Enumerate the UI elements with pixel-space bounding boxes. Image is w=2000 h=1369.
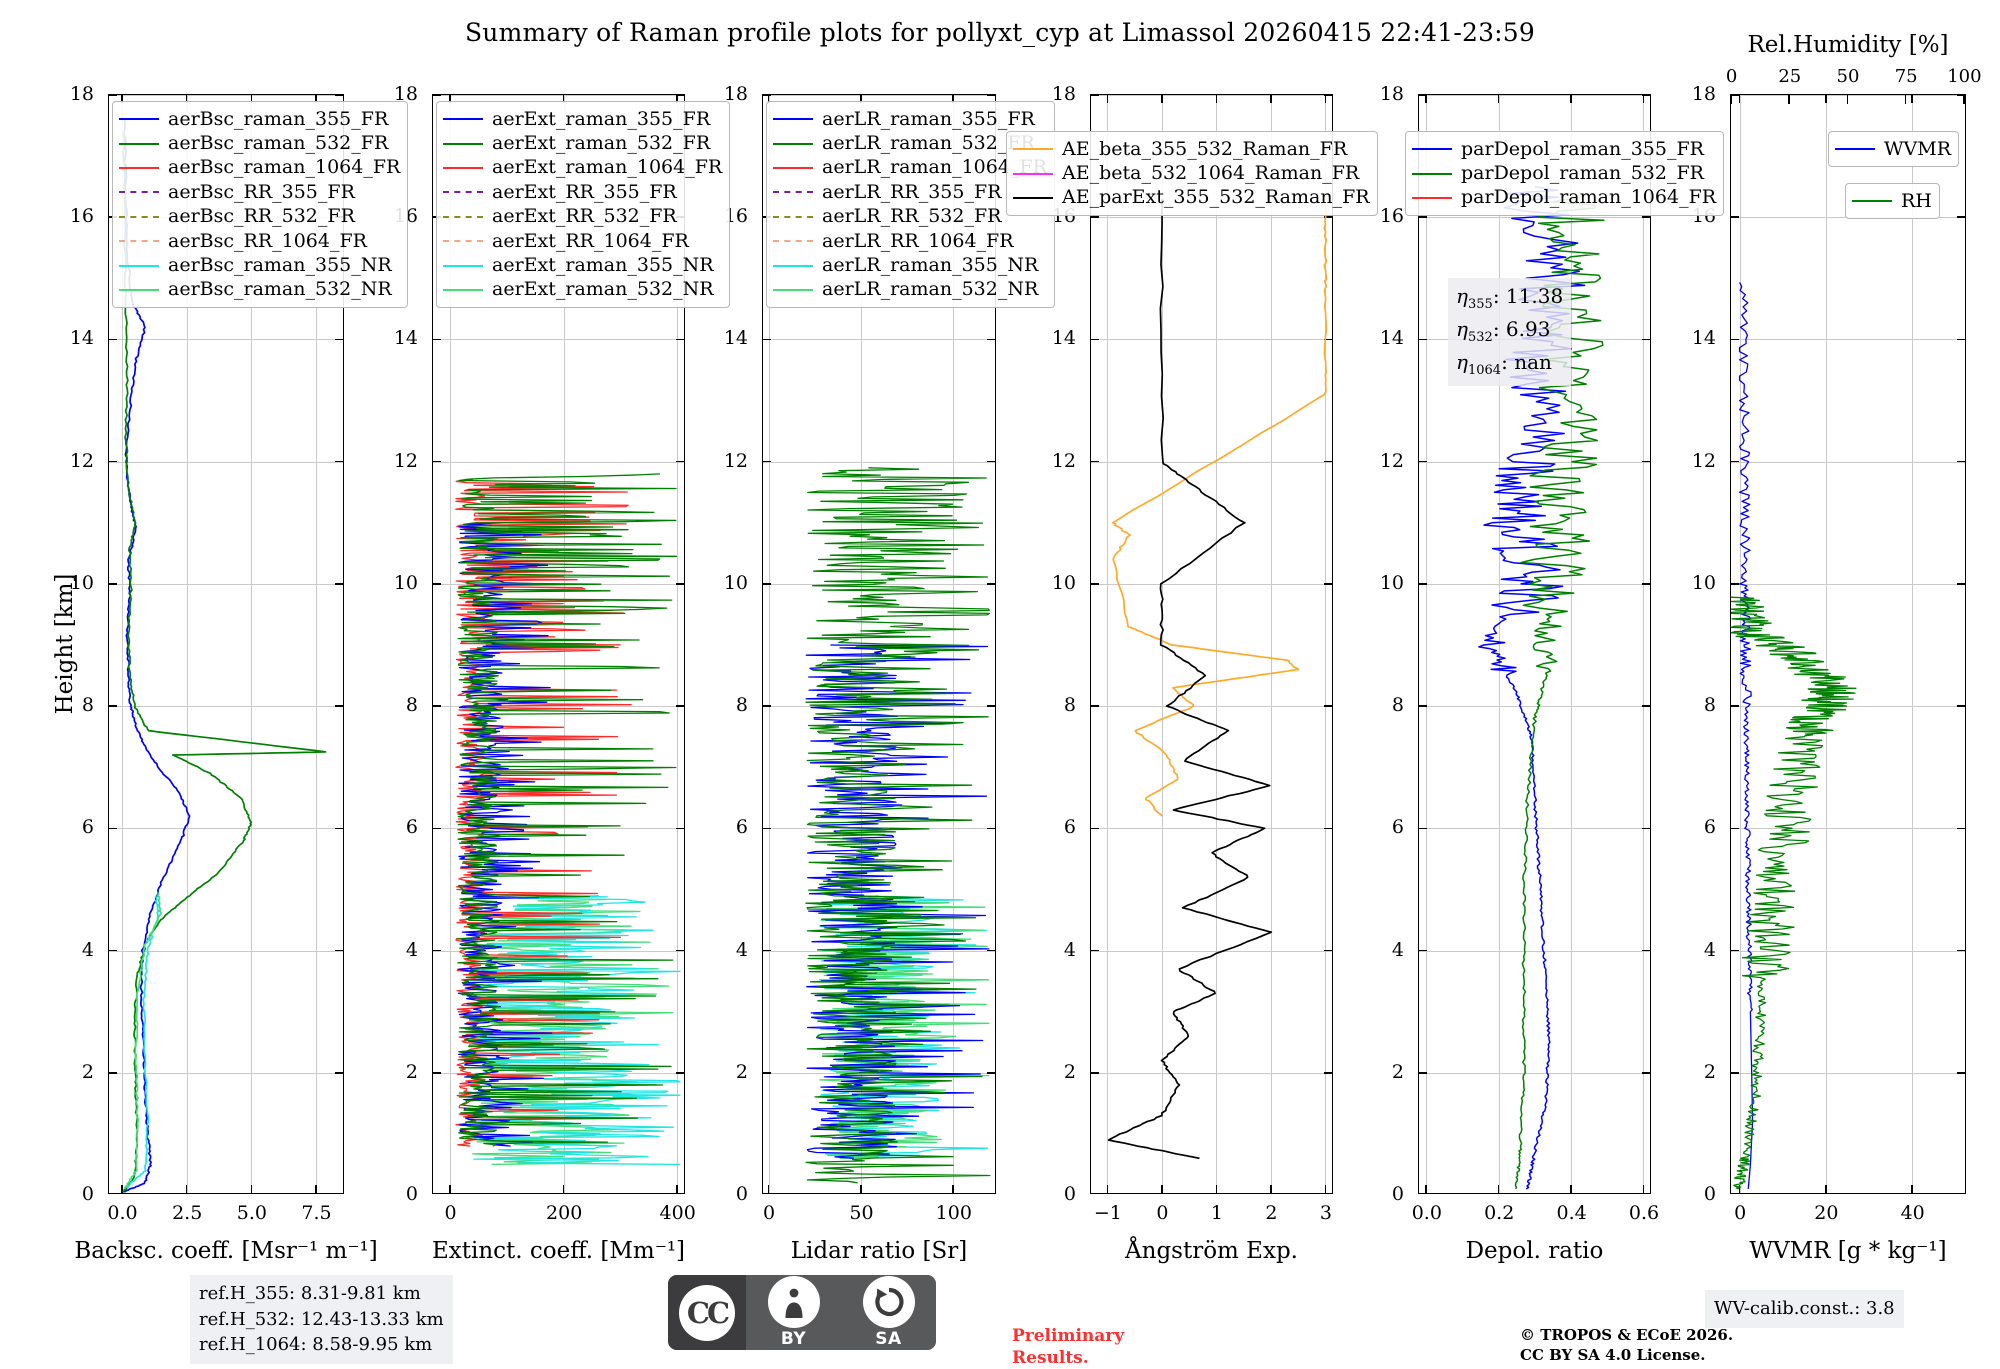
legend-swatch [1412,173,1452,175]
eta-annotation: η355: 11.38 η532: 6.93 η1064: nan [1448,278,1571,386]
cc-sa-label: SA [875,1329,901,1349]
y-tick [1731,1072,1739,1074]
grid-line-horizontal [1419,95,1650,96]
legend-item[interactable]: aerBsc_RR_1064_FR [119,229,400,253]
grid-line-horizontal [433,828,684,829]
y-tick [1324,1072,1332,1074]
y-tick [1324,950,1332,952]
legend-wvmr[interactable]: WVMR [1828,131,1959,167]
legend-swatch [443,289,483,291]
top-axis-tick-label: 75 [1895,66,1918,87]
legend-label: aerBsc_RR_355_FR [168,183,355,202]
y-tick [676,461,684,463]
eta-355-label: 355 [1468,297,1493,312]
legend-item[interactable]: RH [1852,189,1932,213]
y-tick-label: 2 [1036,1061,1076,1083]
y-tick-label: 0 [54,1183,94,1205]
line-aerExt_raman_355_NR [472,896,680,1165]
x-tick [1216,1185,1218,1193]
x-tick-label: 0.4 [1556,1202,1586,1224]
y-tick-label: 6 [378,816,418,838]
x-tick [1107,1185,1109,1193]
x-axis-label: Backsc. coeff. [Msr⁻¹ m⁻¹] [74,1238,377,1264]
y-tick [1419,339,1427,341]
y-tick-label: 18 [1676,83,1716,105]
x-tick-label: 200 [546,1202,582,1224]
y-tick [987,461,995,463]
top-axis-tick [1963,95,1965,104]
y-tick-label: 2 [1364,1061,1404,1083]
y-tick [433,583,441,585]
y-tick [433,94,441,96]
y-tick-label: 10 [1036,572,1076,594]
y-tick-label: 10 [54,572,94,594]
y-tick [763,339,771,341]
y-tick [1324,461,1332,463]
preliminary-results-note: Preliminary Results. [1012,1325,1124,1369]
grid-line-horizontal [109,1073,343,1074]
legend-swatch [119,167,159,169]
y-tick-label: 14 [1676,327,1716,349]
x-tick [1425,1185,1427,1193]
x-tick [1911,95,1913,103]
grid-line-vertical [1571,95,1572,1193]
y-tick-label: 4 [1676,939,1716,961]
legend-item[interactable]: aerExt_RR_532_FR [443,205,722,229]
grid-line-vertical [1826,95,1827,1193]
y-tick-label: 6 [1364,816,1404,838]
panel-wvmr-rh [1730,94,1966,1194]
x-tick [1270,95,1272,103]
x-tick [1643,95,1645,103]
legend-label: aerExt_raman_532_NR [492,280,714,299]
grid-line-horizontal [1091,339,1332,340]
x-tick [1270,1185,1272,1193]
y-tick [1419,461,1427,463]
legend-label: aerExt_raman_355_FR [492,110,710,129]
legend-rh[interactable]: RH [1845,183,1940,219]
legend-item[interactable]: aerBsc_RR_532_FR [119,205,400,229]
legend-swatch [773,216,813,218]
legend-swatch [773,191,813,193]
profile-curves [1419,95,1649,1194]
legend-item[interactable]: aerLR_raman_355_FR [773,107,1047,131]
y-tick [109,583,117,585]
y-tick-label: 16 [54,205,94,227]
x-tick-label: 2.5 [172,1202,202,1224]
grid-line-horizontal [109,706,343,707]
y-tick [1091,94,1099,96]
legend-label: aerLR_RR_355_FR [822,183,1001,202]
y-tick [763,828,771,830]
y-tick [109,1072,117,1074]
legend-label: aerExt_raman_532_FR [492,134,710,153]
legend-label: parDepol_raman_532_FR [1461,164,1704,183]
reference-heights-box: ref.H_355: 8.31-9.81 km ref.H_532: 12.43… [190,1275,453,1364]
wv-calib-box: WV-calib.const.: 3.8 [1705,1290,1904,1328]
legend-label: aerLR_raman_532_FR [822,134,1035,153]
y-tick [433,705,441,707]
x-tick-label: 0.2 [1484,1202,1514,1224]
legend-swatch [1412,148,1452,150]
grid-line-horizontal [1731,339,1965,340]
top-axis-tick-label: 100 [1947,66,1981,87]
legend-item[interactable]: aerBsc_raman_1064_FR [119,156,400,180]
y-tick [433,828,441,830]
y-tick [1731,583,1739,585]
top-axis-tick-label: 25 [1778,66,1801,87]
legend-label: aerExt_RR_355_FR [492,183,677,202]
legend-depol-ratio[interactable]: parDepol_raman_355_FRparDepol_raman_532_… [1405,131,1724,216]
legend-swatch [443,265,483,267]
legend-label: AE_beta_532_1064_Raman_FR [1062,164,1359,183]
y-tick [1642,339,1650,341]
y-tick-label: 14 [378,327,418,349]
y-tick [433,1072,441,1074]
legend-label: aerLR_RR_532_FR [822,207,1001,226]
x-tick-label: 7.5 [301,1202,331,1224]
x-tick-label: 50 [849,1202,873,1224]
y-tick [1731,461,1739,463]
figure-root: Summary of Raman profile plots for polly… [0,0,2000,1360]
grid-line-horizontal [1419,462,1650,463]
grid-line-horizontal [109,828,343,829]
legend-swatch [1852,200,1892,202]
y-tick-label: 12 [54,450,94,472]
x-tick [449,1185,451,1193]
legend-item[interactable]: AE_parExt_355_532_Raman_FR [1013,186,1370,210]
y-tick-label: 8 [1676,694,1716,716]
legend-item[interactable]: aerLR_raman_532_NR [773,278,1047,302]
x-tick [1161,95,1163,103]
y-tick [987,94,995,96]
y-tick [335,339,343,341]
legend-label: parDepol_raman_1064_FR [1461,188,1716,207]
y-tick-label: 10 [1676,572,1716,594]
x-tick-label: 400 [660,1202,696,1224]
legend-extinction[interactable]: aerExt_raman_355_FRaerExt_raman_532_FRae… [436,101,730,308]
legend-swatch [1412,197,1452,199]
y-tick [1419,950,1427,952]
y-tick-label: 2 [54,1061,94,1083]
y-tick [1731,339,1739,341]
legend-item[interactable]: parDepol_raman_355_FR [1412,137,1716,161]
share-alike-icon [863,1276,915,1328]
legend-item[interactable]: aerBsc_raman_355_FR [119,107,400,131]
legend-item[interactable]: aerLR_RR_1064_FR [773,229,1047,253]
legend-item[interactable]: aerExt_RR_355_FR [443,180,722,204]
x-tick-label: 0.0 [107,1202,137,1224]
legend-backscatter[interactable]: aerBsc_raman_355_FRaerBsc_raman_532_FRae… [112,101,408,308]
legend-swatch [119,265,159,267]
grid-line-horizontal [433,951,684,952]
y-tick [335,583,343,585]
cc-by-label: BY [781,1329,806,1349]
legend-label: aerBsc_raman_532_NR [168,280,392,299]
line-AE_parExt_355_532_Raman_FR [1109,199,1272,1158]
line-aerLR_raman_532_FR [806,468,990,1183]
y-tick [335,828,343,830]
y-tick [1091,705,1099,707]
x-tick [768,1185,770,1193]
grid-line-horizontal [109,95,343,96]
grid-line-horizontal [763,706,995,707]
x-tick-label: 1 [1211,1202,1223,1224]
grid-line-horizontal [1731,584,1965,585]
top-axis-tick-label: 0 [1726,66,1737,87]
grid-line-horizontal [1731,828,1965,829]
legend-label: aerLR_raman_355_NR [822,256,1038,275]
y-tick-label: 4 [708,939,748,961]
x-axis-label: Ångström Exp. [1125,1238,1298,1264]
grid-line-horizontal [433,584,684,585]
grid-line-horizontal [109,584,343,585]
grid-line-vertical [1271,95,1272,1193]
legend-item[interactable]: aerExt_raman_532_NR [443,278,722,302]
x-tick-label: 2 [1265,1202,1277,1224]
grid-line-horizontal [1731,706,1965,707]
line-aerBsc_raman_355_NR [124,896,158,1189]
legend-item[interactable]: aerLR_raman_355_NR [773,253,1047,277]
y-tick-label: 10 [1364,572,1404,594]
grid-line-horizontal [109,951,343,952]
y-tick [1642,216,1650,218]
y-tick [763,950,771,952]
y-tick-label: 8 [54,694,94,716]
x-tick-label: 5.0 [237,1202,267,1224]
y-tick [987,583,995,585]
eta-1064-value: nan [1514,350,1552,374]
legend-label: aerBsc_raman_355_FR [168,110,388,129]
eta-532-value: 6.93 [1506,317,1551,341]
y-tick [1091,216,1099,218]
x-tick [1911,1185,1913,1193]
y-tick [1731,216,1739,218]
grid-line-horizontal [109,462,343,463]
legend-item[interactable]: aerExt_raman_1064_FR [443,156,722,180]
x-tick-label: 0.6 [1629,1202,1659,1224]
y-tick-label: 6 [54,816,94,838]
legend-label: aerLR_raman_532_NR [822,280,1038,299]
grid-line-vertical [1162,95,1163,1193]
grid-line-horizontal [1419,1073,1650,1074]
legend-item[interactable]: aerBsc_raman_532_FR [119,131,400,155]
legend-item[interactable]: aerExt_raman_355_FR [443,107,722,131]
grid-line-vertical [1740,95,1741,1193]
cc-logo-icon: CC [668,1275,746,1350]
x-tick [1425,95,1427,103]
legend-swatch [773,143,813,145]
y-tick-label: 12 [1364,450,1404,472]
x-tick [676,1185,678,1193]
x-tick [952,1185,954,1193]
grid-line-horizontal [763,584,995,585]
grid-line-horizontal [763,951,995,952]
y-tick [335,461,343,463]
cc-license-badge[interactable]: CC BY SA [668,1275,936,1350]
x-axis-label: Depol. ratio [1466,1238,1604,1264]
legend-swatch [119,191,159,193]
y-tick [1957,216,1965,218]
y-tick [433,461,441,463]
legend-swatch [119,143,159,145]
legend-label: WVMR [1884,140,1951,159]
grid-line-horizontal [433,95,684,96]
x-axis-label: Lidar ratio [Sr] [791,1238,968,1264]
legend-item[interactable]: aerBsc_raman_355_NR [119,253,400,277]
grid-line-horizontal [1091,584,1332,585]
y-tick-label: 12 [1036,450,1076,472]
legend-swatch [443,167,483,169]
y-tick [987,828,995,830]
y-tick [1419,1072,1427,1074]
top-axis-tick [1730,95,1732,104]
legend-swatch [119,118,159,120]
legend-item[interactable]: aerBsc_RR_355_FR [119,180,400,204]
y-tick [1642,705,1650,707]
x-tick [186,1185,188,1193]
y-tick [676,828,684,830]
y-tick [1731,828,1739,830]
legend-swatch [119,289,159,291]
legend-label: aerBsc_raman_355_NR [168,256,392,275]
panel-depol-ratio [1418,94,1651,1194]
y-tick-label: 8 [708,694,748,716]
y-tick [987,1072,995,1074]
top-axis-tick [1788,95,1790,104]
grid-line-horizontal [1731,462,1965,463]
y-tick-label: 10 [378,572,418,594]
legend-item[interactable]: aerExt_raman_532_FR [443,131,722,155]
y-tick-label: 4 [378,939,418,961]
y-tick [1642,583,1650,585]
y-tick [1957,705,1965,707]
x-tick-label: 20 [1814,1202,1838,1224]
x-axis-label: WVMR [g * kg⁻¹] [1749,1238,1946,1264]
legend-swatch [773,167,813,169]
x-tick [1570,95,1572,103]
x-tick [1825,95,1827,103]
grid-line-horizontal [763,828,995,829]
x-tick [121,1185,123,1193]
grid-line-horizontal [109,339,343,340]
legend-swatch [1013,173,1053,175]
y-tick [433,339,441,341]
x-tick [860,1185,862,1193]
y-tick [1731,950,1739,952]
top-axis-tick [1905,95,1907,104]
legend-swatch [1013,197,1053,199]
grid-line-horizontal [1091,1073,1332,1074]
line-aerLR_raman_355_FR [806,645,989,1158]
y-tick-label: 6 [1676,816,1716,838]
legend-item[interactable]: aerExt_RR_1064_FR [443,229,722,253]
y-tick [1957,583,1965,585]
y-tick [1324,828,1332,830]
x-tick-label: 0 [1156,1202,1168,1224]
y-tick [335,705,343,707]
eta-1064-row: η1064: nan [1456,348,1563,381]
grid-line-horizontal [1731,1073,1965,1074]
y-tick [1091,1072,1099,1074]
y-tick [1091,583,1099,585]
legend-item[interactable]: parDepol_raman_1064_FR [1412,186,1716,210]
grid-line-horizontal [1419,951,1650,952]
y-tick [676,950,684,952]
grid-line-vertical [1426,95,1427,1193]
x-tick [1325,95,1327,103]
y-tick [1091,950,1099,952]
y-tick [1419,216,1427,218]
y-tick [1419,705,1427,707]
legend-item[interactable]: parDepol_raman_532_FR [1412,161,1716,185]
top-axis-tick-label: 50 [1837,66,1860,87]
y-tick-label: 10 [708,572,748,594]
panel-angstrom [1090,94,1333,1194]
legend-swatch [1013,148,1053,150]
legend-label: aerBsc_RR_532_FR [168,207,355,226]
y-tick [1324,705,1332,707]
y-tick-label: 2 [1676,1061,1716,1083]
legend-item[interactable]: WVMR [1835,137,1951,161]
x-tick-label: 100 [936,1202,972,1224]
legend-item[interactable]: AE_beta_355_532_Raman_FR [1013,137,1370,161]
y-tick [676,1072,684,1074]
grid-line-vertical [1912,95,1913,1193]
line-aerExt_raman_532_FR [458,474,677,1146]
line-aerExt_raman_355_FR [459,523,552,1146]
y-tick-label: 14 [54,327,94,349]
legend-label: aerExt_raman_1064_FR [492,158,722,177]
legend-item[interactable]: aerBsc_raman_532_NR [119,278,400,302]
y-tick [987,950,995,952]
grid-line-horizontal [763,1073,995,1074]
y-tick-label: 2 [708,1061,748,1083]
y-tick [335,950,343,952]
y-tick-label: 8 [378,694,418,716]
y-tick [1642,828,1650,830]
y-tick [676,705,684,707]
y-tick-label: 4 [1036,939,1076,961]
y-tick-label: 18 [54,83,94,105]
cc-by-icon: BY [746,1275,841,1350]
y-tick [1091,339,1099,341]
legend-angstrom[interactable]: AE_beta_355_532_Raman_FRAE_beta_532_1064… [1006,131,1378,216]
line-aerLR_raman_355_NR [818,896,988,1159]
y-tick [1957,1072,1965,1074]
grid-line-horizontal [433,1073,684,1074]
legend-item[interactable]: aerExt_raman_355_NR [443,253,722,277]
y-tick-label: 8 [1036,694,1076,716]
y-tick [1642,461,1650,463]
person-icon [768,1276,820,1328]
y-tick [1957,950,1965,952]
legend-swatch [119,240,159,242]
y-tick [1419,583,1427,585]
x-axis-label: Extinct. coeff. [Mm⁻¹] [432,1238,685,1264]
grid-line-horizontal [1091,95,1332,96]
x-tick [1643,1185,1645,1193]
y-tick [676,583,684,585]
y-tick [1324,583,1332,585]
grid-line-horizontal [1419,217,1650,218]
line-aerExt_raman_532_NR [469,896,673,1165]
legend-item[interactable]: AE_beta_532_1064_Raman_FR [1013,161,1370,185]
y-tick [1957,461,1965,463]
legend-swatch [443,143,483,145]
y-tick [1957,339,1965,341]
legend-label: AE_parExt_355_532_Raman_FR [1062,188,1370,207]
